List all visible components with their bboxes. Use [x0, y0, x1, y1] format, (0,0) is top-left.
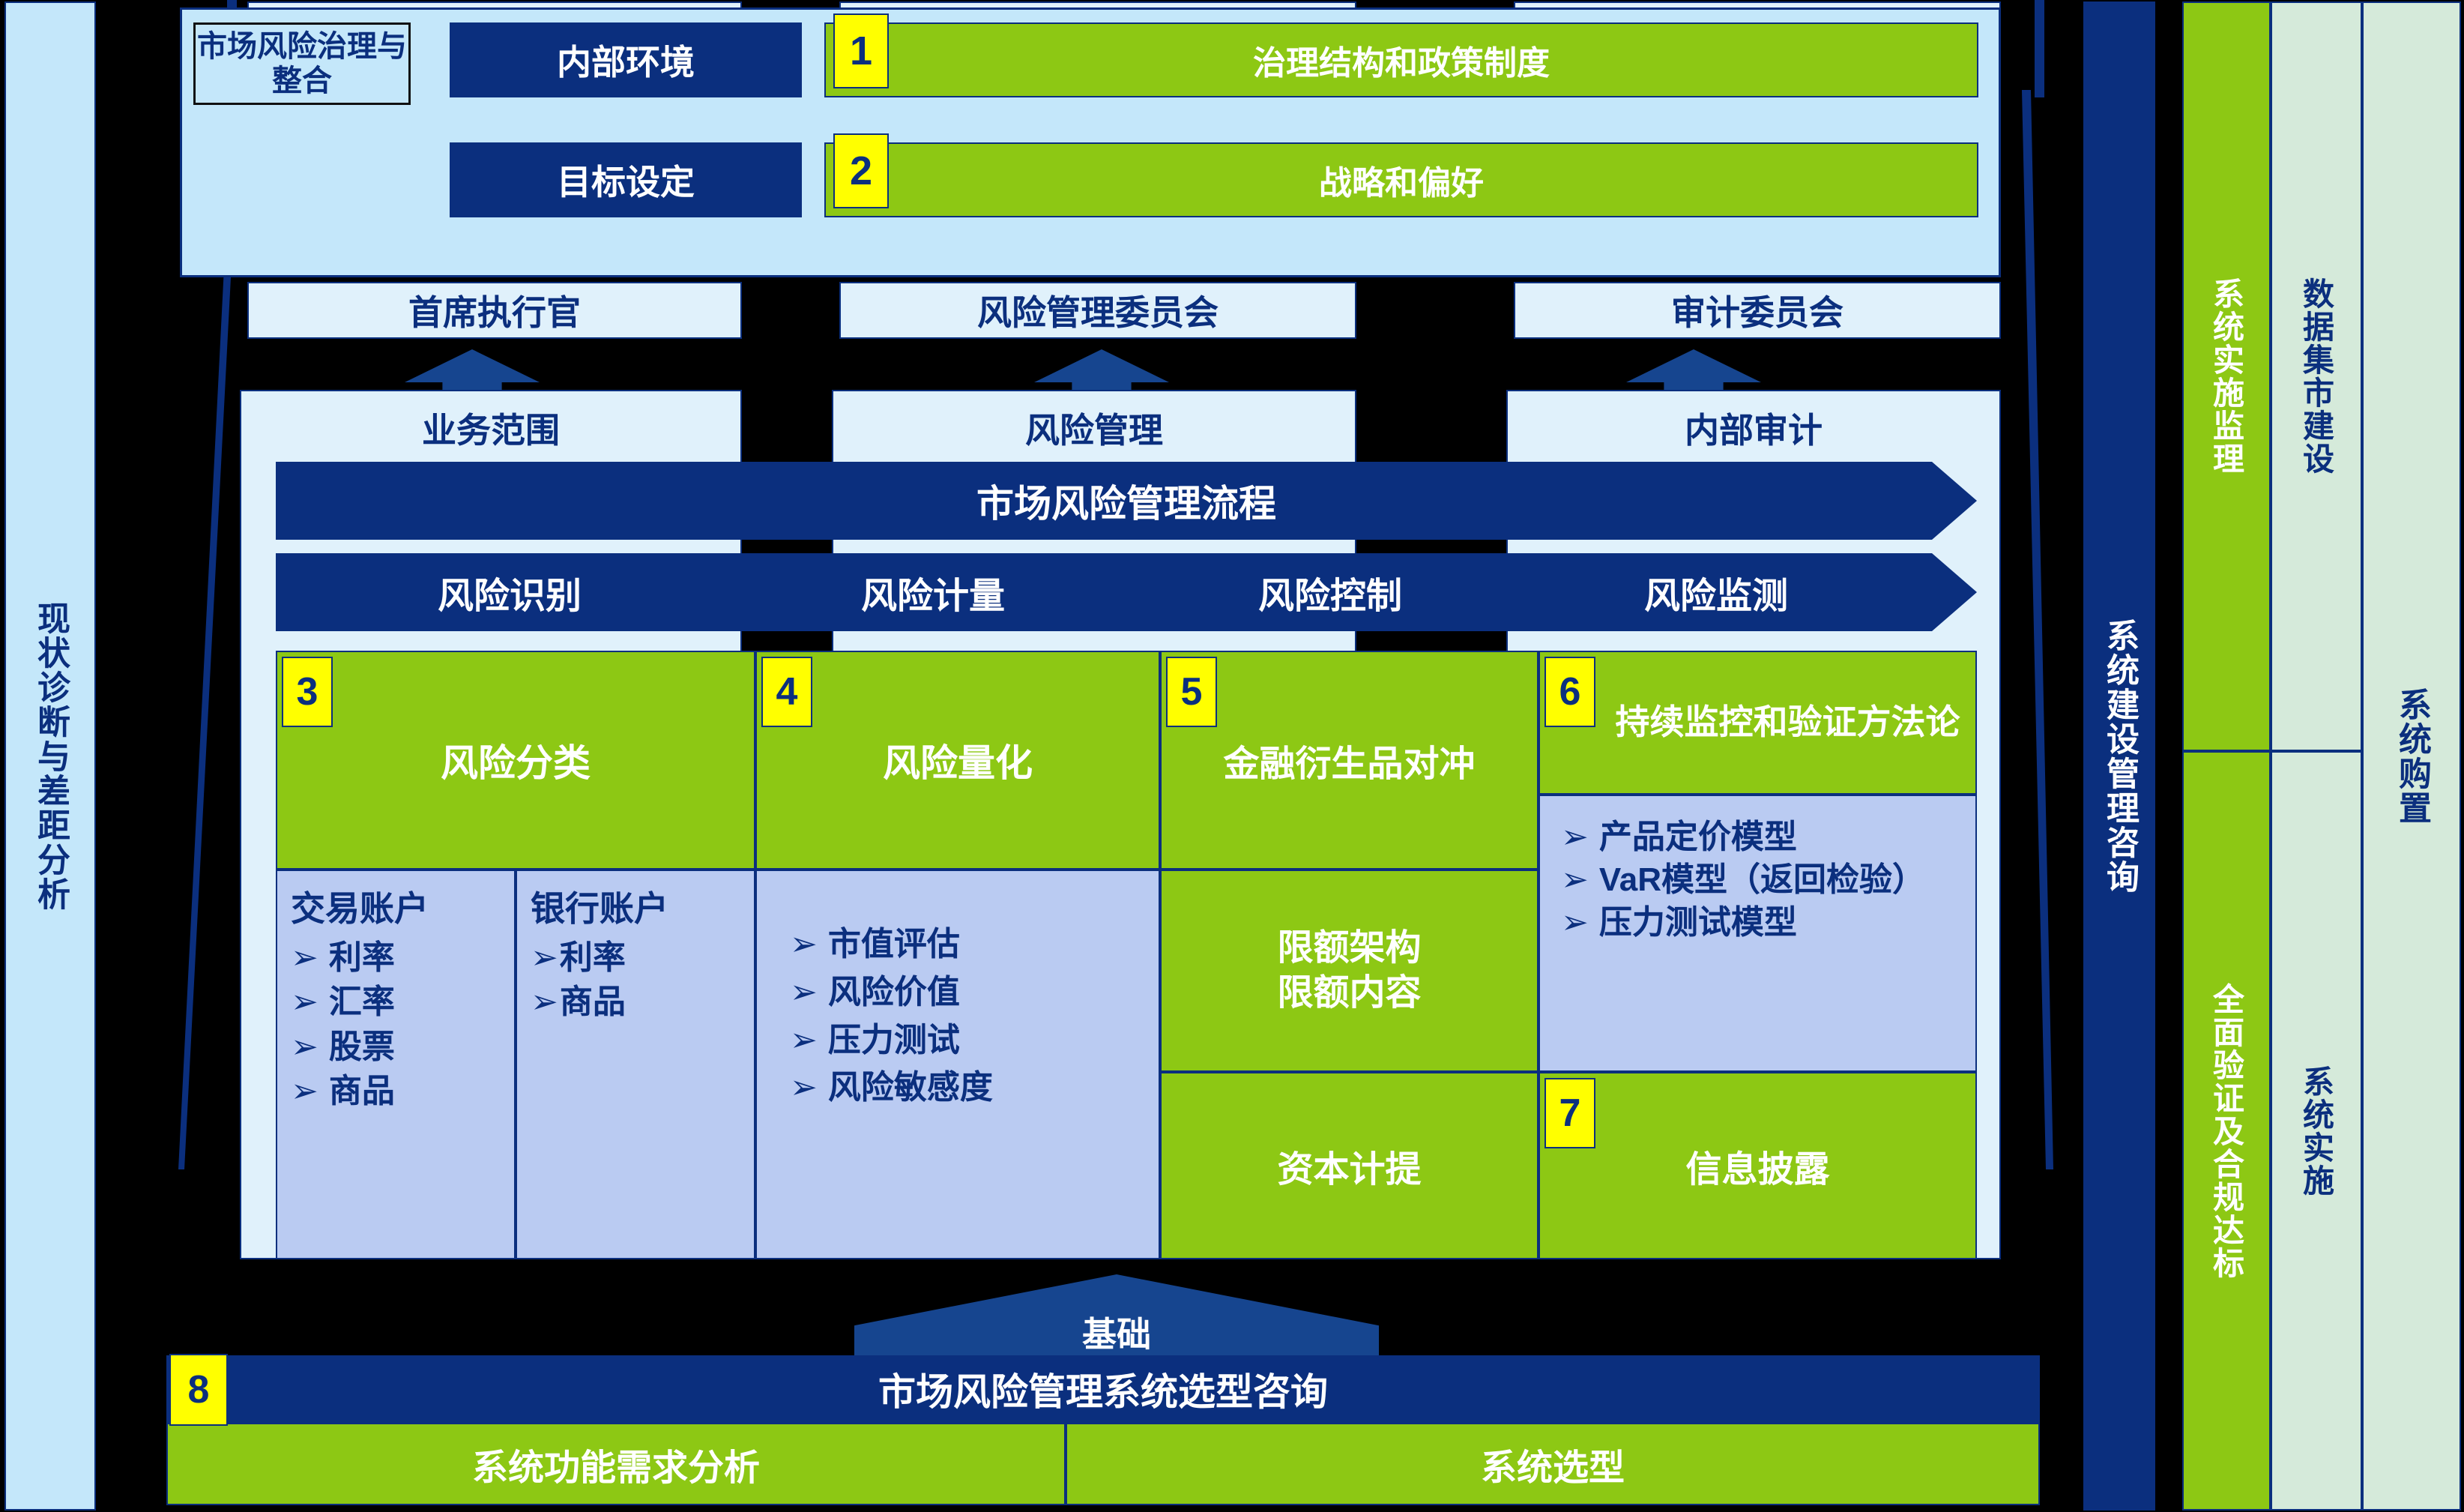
right-rail-system-consulting: 系统建设管理咨询: [2083, 1, 2155, 1511]
list-panel-banking-book: 银行账户 ➢利率 ➢商品: [516, 870, 755, 1259]
list-panel-models: ➢产品定价模型 ➢VaR模型（返回检验） ➢压力测试模型: [1539, 795, 1977, 1072]
list-item-label: 商品: [560, 980, 626, 1024]
function-label-audit: 内部审计: [1506, 403, 2001, 453]
number-tag-value: 1: [850, 31, 872, 71]
card-capital-allocation[interactable]: 资本计提: [1160, 1072, 1539, 1259]
governance-corner-box: 市场风险治理与整合: [193, 22, 411, 105]
stage-box-objective-setting[interactable]: 目标设定: [450, 142, 802, 217]
stage-label: 内部环境: [557, 35, 695, 85]
number-tag-value: 7: [1559, 1094, 1581, 1133]
list-item-label: 股票: [329, 1025, 395, 1069]
card-title: 资本计提: [1277, 1139, 1421, 1192]
list-item-label: 利率: [560, 936, 626, 980]
function-label: 风险管理: [1025, 403, 1163, 453]
number-tag-value: 2: [850, 151, 872, 191]
governance-desc-1[interactable]: 治理结构和政策制度: [824, 22, 1978, 97]
number-tag-8: 8: [169, 1354, 228, 1426]
list-item-label: VaR模型（返回检验）: [1599, 858, 1925, 901]
card-limit-framework[interactable]: 限额架构 限额内容: [1160, 870, 1539, 1072]
list-item-label: 压力测试: [828, 1016, 960, 1064]
stage-label: 目标设定: [557, 155, 695, 205]
list-item-label: 商品: [329, 1069, 395, 1113]
list-item: ➢商品: [291, 1069, 507, 1113]
right-rail-label: 系统购置: [2388, 687, 2436, 825]
function-label-riskmgmt: 风险管理: [832, 403, 1356, 453]
committee-risk[interactable]: 风险管理委员会: [839, 282, 1356, 339]
bottom-subbar-requirements[interactable]: 系统功能需求分析: [166, 1423, 1066, 1505]
list-panel-quantification: ➢市值评估 ➢风险价值 ➢压力测试 ➢风险敏感度: [755, 870, 1160, 1259]
committee-ceo[interactable]: 首席执行官: [247, 282, 742, 339]
phase-risk-identification[interactable]: 风险识别: [285, 553, 734, 631]
number-tag-value: 3: [297, 672, 318, 711]
governance-desc-label: 战略和偏好: [1319, 156, 1484, 204]
list-item-label: 风险敏感度: [828, 1064, 993, 1112]
list-item: ➢汇率: [291, 980, 507, 1024]
list-item: ➢风险价值: [790, 969, 1151, 1016]
bottom-consulting-bar[interactable]: 市场风险管理系统选型咨询: [166, 1355, 2040, 1423]
card-title: 持续监控和验证方法论: [1616, 702, 1960, 743]
list-item: ➢压力测试模型: [1561, 901, 1963, 944]
bullet-arrow-icon: ➢: [291, 1069, 318, 1113]
right-rail-label: 系统建设管理咨询: [2095, 618, 2143, 894]
list-item: ➢风险敏感度: [790, 1064, 1151, 1112]
list-item: ➢VaR模型（返回检验）: [1561, 858, 1963, 901]
card-title-line2: 限额内容: [1277, 971, 1421, 1016]
phase-label: 风险识别: [438, 566, 582, 618]
bullet-arrow-icon: ➢: [1561, 901, 1589, 944]
phase-label: 风险控制: [1258, 566, 1402, 618]
right-rail-validation[interactable]: 全面验证及合规达标: [2182, 751, 2271, 1511]
governance-desc-label: 治理结构和政策制度: [1253, 36, 1550, 84]
phase-label: 风险监测: [1644, 566, 1788, 618]
bottom-consulting-label: 市场风险管理系统选型咨询: [878, 1362, 1328, 1416]
number-tag-value: 4: [776, 672, 798, 711]
phase-label: 风险计量: [861, 566, 1005, 618]
card-risk-classification[interactable]: 风险分类: [276, 651, 755, 870]
number-tag-2: 2: [833, 133, 889, 208]
card-title: 风险分类: [441, 733, 591, 787]
phase-risk-monitoring[interactable]: 风险监测: [1529, 553, 1903, 631]
diagram-canvas: 现状诊断与差距分析 市场风险治理与整合 内部环境 治理结构和政策制度 1 目标设…: [0, 0, 2464, 1512]
right-rail-datamart[interactable]: 数据集市建设: [2271, 1, 2362, 751]
list-item: ➢利率: [531, 936, 746, 980]
governance-desc-2[interactable]: 战略和偏好: [824, 142, 1978, 217]
list-item: ➢商品: [531, 980, 746, 1024]
bottom-subbar-selection[interactable]: 系统选型: [1066, 1423, 2040, 1505]
list-item-label: 压力测试模型: [1599, 901, 1797, 944]
list-panel-trading-book: 交易账户 ➢利率 ➢汇率 ➢股票 ➢商品: [276, 870, 516, 1259]
bottom-subbar-label: 系统选型: [1481, 1438, 1625, 1490]
phase-risk-control[interactable]: 风险控制: [1147, 553, 1514, 631]
function-label: 内部审计: [1685, 403, 1823, 453]
committee-audit[interactable]: 审计委员会: [1514, 282, 2001, 339]
governance-corner-label: 市场风险治理与整合: [196, 29, 408, 98]
trading-book-list: ➢利率 ➢汇率 ➢股票 ➢商品: [291, 936, 507, 1114]
list-item: ➢市值评估: [790, 921, 1151, 969]
bullet-arrow-icon: ➢: [291, 980, 318, 1024]
list-item-label: 汇率: [329, 980, 395, 1024]
card-title: 信息披露: [1685, 1139, 1829, 1192]
number-tag-5: 5: [1166, 657, 1217, 727]
committee-label: 风险管理委员会: [977, 286, 1219, 335]
card-monitoring-methodology[interactable]: 持续监控和验证方法论: [1539, 651, 1977, 795]
number-tag-4: 4: [761, 657, 812, 727]
list-item: ➢利率: [291, 936, 507, 980]
stage-box-internal-environment[interactable]: 内部环境: [450, 22, 802, 97]
card-risk-quantification[interactable]: 风险量化: [755, 651, 1160, 870]
card-information-disclosure[interactable]: 信息披露: [1539, 1072, 1977, 1259]
left-rail-label: 现状诊断与差距分析: [26, 601, 74, 912]
bullet-arrow-icon: ➢: [531, 936, 558, 980]
function-label-business: 业务范围: [240, 403, 742, 453]
process-band-label: 市场风险管理流程: [976, 474, 1276, 528]
bullet-arrow-icon: ➢: [531, 980, 558, 1024]
bottom-subbar-label: 系统功能需求分析: [472, 1438, 760, 1490]
bullet-arrow-icon: ➢: [1561, 858, 1589, 901]
number-tag-7: 7: [1544, 1078, 1595, 1148]
right-rail-label: 数据集市建设: [2294, 277, 2340, 475]
models-list: ➢产品定价模型 ➢VaR模型（返回检验） ➢压力测试模型: [1561, 816, 1963, 945]
number-tag-3: 3: [282, 657, 333, 727]
right-rail-label: 系统实施: [2294, 1065, 2340, 1197]
banking-book-list: ➢利率 ➢商品: [531, 936, 746, 1025]
right-rail-system-procurement[interactable]: 系统购置: [2362, 1, 2461, 1511]
list-item: ➢产品定价模型: [1561, 816, 1963, 858]
bullet-arrow-icon: ➢: [790, 969, 818, 1016]
right-rail-implementation[interactable]: 系统实施: [2271, 751, 2362, 1511]
bullet-arrow-icon: ➢: [291, 936, 318, 980]
trading-book-heading: 交易账户: [291, 882, 507, 931]
number-tag-value: 5: [1181, 672, 1203, 711]
bullet-arrow-icon: ➢: [790, 1016, 818, 1064]
card-title: 金融衍生品对冲: [1223, 734, 1475, 786]
number-tag-6: 6: [1544, 657, 1595, 727]
bullet-arrow-icon: ➢: [790, 1064, 818, 1112]
bullet-arrow-icon: ➢: [1561, 816, 1589, 858]
number-tag-value: 6: [1559, 672, 1581, 711]
number-tag-value: 8: [188, 1370, 210, 1409]
process-band: 市场风险管理流程: [276, 462, 1977, 540]
bullet-arrow-icon: ➢: [790, 921, 818, 969]
list-item-label: 产品定价模型: [1599, 816, 1797, 858]
list-item: ➢股票: [291, 1025, 507, 1069]
function-label: 业务范围: [422, 403, 560, 453]
right-rail-supervision[interactable]: 系统实施监理: [2182, 1, 2271, 751]
list-item-label: 风险价值: [828, 969, 960, 1016]
list-item-label: 市值评估: [828, 921, 960, 969]
banking-book-heading: 银行账户: [531, 882, 746, 931]
left-rail-current-state: 现状诊断与差距分析: [4, 1, 96, 1511]
right-rail-label: 系统实施监理: [2204, 277, 2250, 475]
card-title-line1: 限额架构: [1277, 926, 1421, 971]
committee-label: 首席执行官: [408, 286, 581, 335]
foundation-arrow-label: 基础: [1082, 1307, 1151, 1357]
committee-label: 审计委员会: [1671, 286, 1844, 335]
number-tag-1: 1: [833, 13, 889, 88]
phase-risk-measurement[interactable]: 风险计量: [749, 553, 1117, 631]
quantification-list: ➢市值评估 ➢风险价值 ➢压力测试 ➢风险敏感度: [790, 921, 1151, 1112]
list-item: ➢压力测试: [790, 1016, 1151, 1064]
card-title: 风险量化: [883, 733, 1033, 787]
right-rail-label: 全面验证及合规达标: [2204, 983, 2250, 1280]
bullet-arrow-icon: ➢: [291, 1025, 318, 1069]
list-item-label: 利率: [329, 936, 395, 980]
foundation-arrow: 基础: [854, 1274, 1379, 1357]
